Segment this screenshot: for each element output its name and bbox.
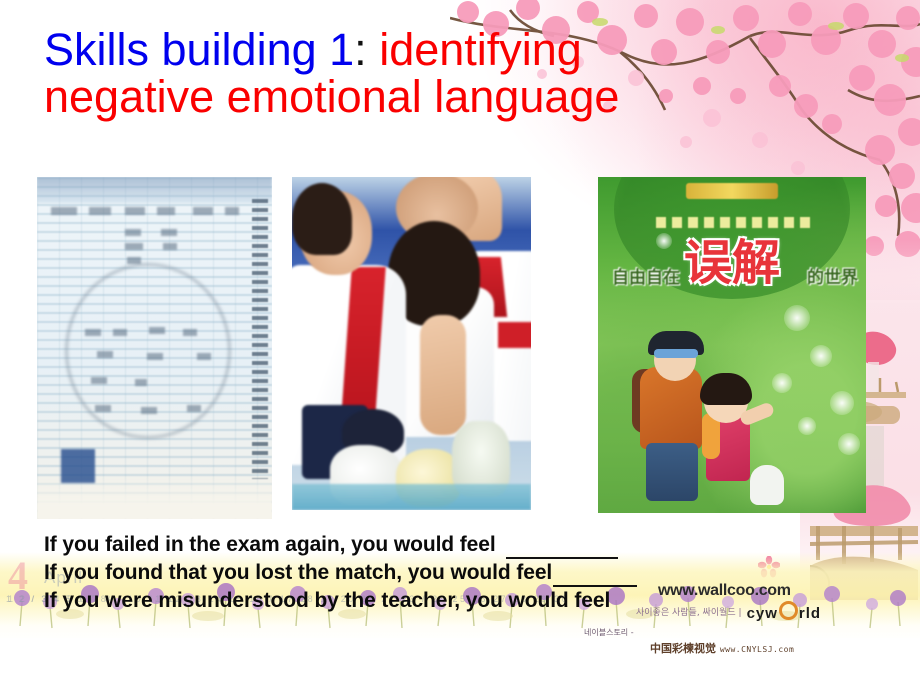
player-right-red-accent <box>498 322 531 348</box>
boy-legs <box>646 443 698 501</box>
watermark-korean-small: 네이블스토리 - <box>584 627 906 638</box>
title-colon: : <box>354 24 367 75</box>
book-title-side-right: 的世界 <box>807 263 858 288</box>
court-floor <box>292 484 531 510</box>
answer-blank[interactable] <box>506 542 618 559</box>
girl-hair <box>700 373 752 405</box>
book-fluff-5 <box>798 417 816 435</box>
title-line-2: negative emotional language <box>44 73 744 120</box>
image-volleyball-team <box>292 177 531 510</box>
book-gold-banner <box>686 183 778 199</box>
player-center-arm <box>420 315 466 435</box>
player-left-hair <box>292 183 352 255</box>
book-fluff-2 <box>810 345 832 367</box>
watermark-cyworld-row: 사이좋은 사람들, 싸이월드 | cywrld <box>636 601 906 622</box>
watermark-chinese: 中国彩楝视觉 www.CNYLSJ.com <box>650 640 906 656</box>
white-dog <box>750 465 784 505</box>
book-fluff-1 <box>784 305 810 331</box>
book-fluff-3 <box>772 373 792 393</box>
calendar-month-number: 4 <box>8 552 28 599</box>
exam-sheet-footer <box>37 477 272 519</box>
cyworld-o-ring-icon <box>779 601 798 620</box>
image-book-cover-misunderstanding: 自由自在 误解 的世界 <box>598 177 866 513</box>
watermark-block: www.wallcoo.com 사이좋은 사람들, 싸이월드 | cywrld … <box>636 582 906 656</box>
image-exam-score-sheet <box>37 177 272 519</box>
statement-row: If you failed in the exam again, you wou… <box>44 531 864 559</box>
watermark-chinese-url: www.CNYLSJ.com <box>720 645 794 654</box>
watermark-korean-tagline: 사이좋은 사람들, 싸이월드 | <box>636 605 742 618</box>
exam-sheet-right-column <box>252 199 268 479</box>
exam-sheet-header <box>37 177 272 203</box>
statement-text: If you failed in the exam again, you wou… <box>44 533 496 556</box>
slide-title: Skills building 1: identifying negative … <box>44 26 744 121</box>
title-part-blue: Skills building 1 <box>44 24 354 75</box>
exam-sheet-highlight-cell <box>61 449 95 483</box>
book-fluff-7 <box>656 233 672 249</box>
title-line-1: Skills building 1: identifying <box>44 26 744 73</box>
watermark-cyworld: cywrld <box>747 601 822 622</box>
answer-blank[interactable] <box>553 570 637 587</box>
book-fluff-4 <box>830 391 854 415</box>
book-subtitle-line <box>656 217 816 228</box>
watermark-wallcoo: www.wallcoo.com <box>658 582 906 600</box>
boy-headband <box>654 349 698 358</box>
statement-text: If you found that you lost the match, yo… <box>44 561 552 584</box>
presentation-slide: Skills building 1: identifying negative … <box>0 0 920 690</box>
book-fluff-6 <box>838 433 860 455</box>
statement-text: If you were misunderstood by the teacher… <box>44 589 610 612</box>
title-part-red-1: identifying <box>379 24 582 75</box>
